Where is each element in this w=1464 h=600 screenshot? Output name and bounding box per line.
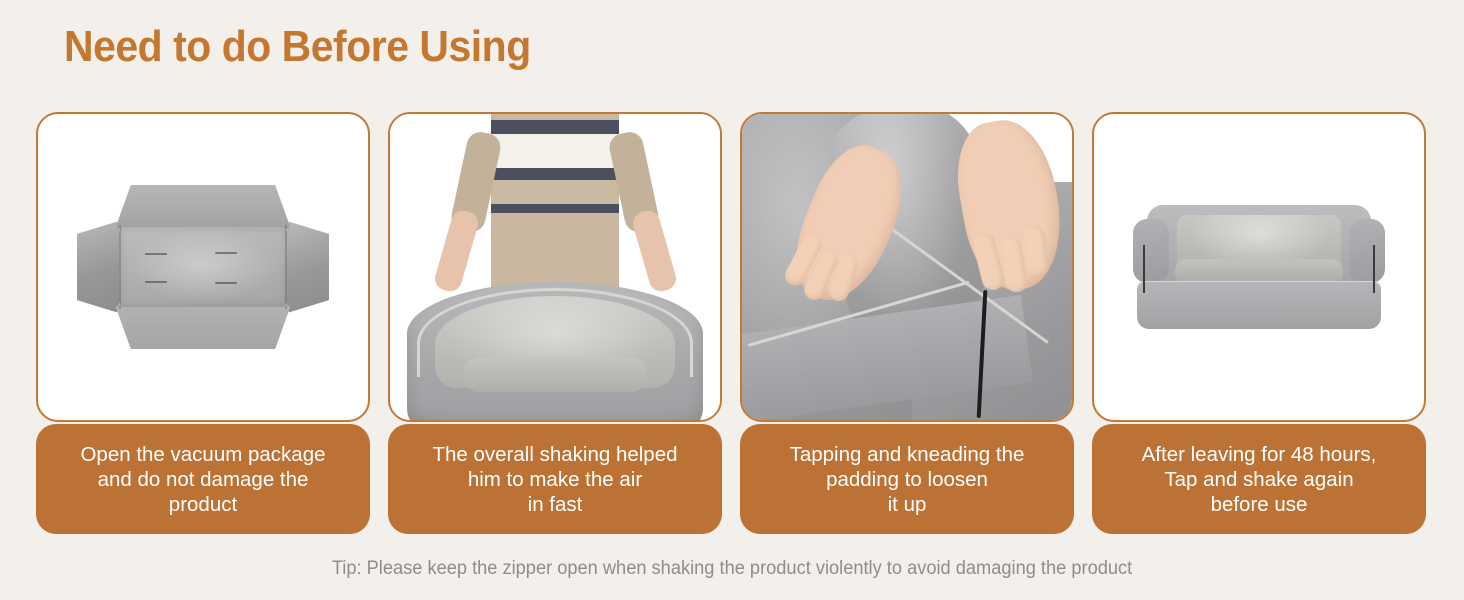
bed-center-cushion xyxy=(119,227,287,307)
step-card-1: Open the vacuum package and do not damag… xyxy=(36,112,370,537)
bed-left-flap xyxy=(77,221,119,313)
sweater-stripe xyxy=(491,120,619,134)
person-shaking-bed-illustration xyxy=(390,114,720,420)
tuft-stitch xyxy=(215,252,237,254)
tip-text: Tip: Please keep the zipper open when sh… xyxy=(29,558,1434,580)
tuft-stitch xyxy=(145,253,167,255)
bed-zipper xyxy=(1373,245,1375,293)
sweater-stripe xyxy=(491,168,619,180)
step-caption-4: After leaving for 48 hours, Tap and shak… xyxy=(1092,424,1426,534)
hands-kneading-illustration xyxy=(742,114,1072,420)
step-image-1 xyxy=(36,112,370,422)
sweater-stripe xyxy=(491,180,619,204)
vacuum-packed-bed-illustration xyxy=(38,114,368,420)
sweater-stripe xyxy=(491,134,619,168)
pet-bed-held-open xyxy=(407,282,703,422)
step-caption-2: The overall shaking helped him to make t… xyxy=(388,424,722,534)
bed-zipper xyxy=(1143,245,1145,293)
bed-top-flap xyxy=(115,185,291,229)
tuft-stitch xyxy=(215,282,237,284)
step-image-2 xyxy=(388,112,722,422)
bed-right-armrest xyxy=(1349,219,1385,283)
bed-right-flap xyxy=(287,221,329,313)
step-caption-3: Tapping and kneading the padding to loos… xyxy=(740,424,1074,534)
seam-line xyxy=(285,225,287,309)
bed-left-armrest xyxy=(1133,219,1169,283)
step-card-2: The overall shaking helped him to make t… xyxy=(388,112,722,537)
step-image-3 xyxy=(740,112,1074,422)
tuft-stitch xyxy=(145,281,167,283)
step-image-4 xyxy=(1092,112,1426,422)
sweater-stripe xyxy=(491,204,619,213)
seam-line xyxy=(119,225,121,309)
finished-bed-illustration xyxy=(1094,114,1424,420)
steps-row: Open the vacuum package and do not damag… xyxy=(36,112,1430,537)
step-card-4: After leaving for 48 hours, Tap and shak… xyxy=(1092,112,1426,537)
page-title: Need to do Before Using xyxy=(64,22,531,72)
finger xyxy=(1022,225,1048,277)
step-caption-1: Open the vacuum package and do not damag… xyxy=(36,424,370,534)
step-card-3: Tapping and kneading the padding to loos… xyxy=(740,112,1074,537)
bed-bottom-flap xyxy=(115,305,291,349)
bed-front-panel xyxy=(1137,281,1381,329)
